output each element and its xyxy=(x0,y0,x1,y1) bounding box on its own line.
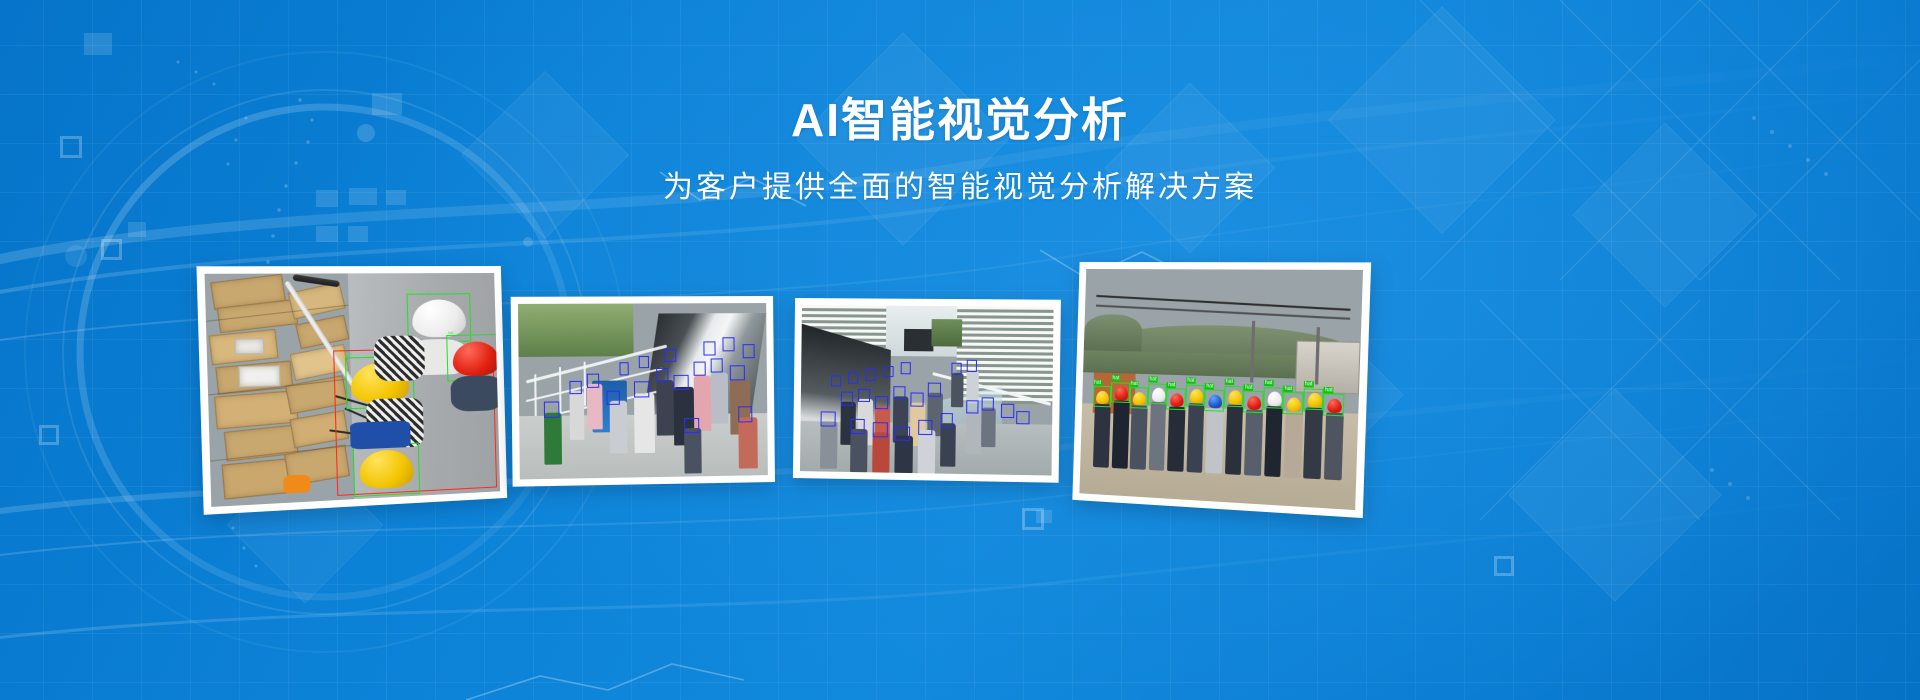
detection-label-hat: hat xyxy=(1111,375,1120,381)
decor-square-fill-7 xyxy=(84,33,112,55)
photo-crowd-escalator xyxy=(800,305,1054,475)
photo-helmet-warehouse: hat hat hat hat xyxy=(205,273,501,507)
detection-label-hat: hat xyxy=(1093,379,1102,385)
decor-square-outline-5 xyxy=(1494,556,1514,576)
detection-label-hat: hat xyxy=(1225,379,1235,386)
gallery-card-face-footbridge[interactable] xyxy=(511,296,775,487)
decor-square-fill-5 xyxy=(316,226,338,242)
decor-square-fill-6 xyxy=(348,226,368,242)
decor-dot-small xyxy=(523,237,533,247)
photo-face-footbridge xyxy=(518,303,768,479)
detection-label-hat: hat xyxy=(1205,383,1215,390)
gallery-strip: hat hat hat hat xyxy=(0,252,1920,532)
detection-label-hat: hat xyxy=(1324,387,1334,394)
detection-label-hat: hat xyxy=(1244,384,1254,391)
page-title: AI智能视觉分析 xyxy=(0,92,1920,150)
gallery-card-helmet-warehouse[interactable]: hat hat hat hat xyxy=(196,266,507,515)
detection-label-hat: hat xyxy=(1148,376,1157,382)
page-subtitle: 为客户提供全面的智能视觉分析解决方案 xyxy=(0,168,1920,207)
detection-label-hat: hat xyxy=(1304,381,1314,388)
detection-label-hat: hat xyxy=(1283,385,1293,392)
detection-label-hat: hat xyxy=(1167,382,1176,388)
gallery-card-helmet-outdoor[interactable]: hat hat hat hat hat hat hat hat hat hat … xyxy=(1072,262,1371,518)
detection-label-hat: hat xyxy=(1264,380,1274,387)
hero-banner: AI智能视觉分析 为客户提供全面的智能视觉分析解决方案 xyxy=(0,0,1920,700)
gallery-card-crowd-escalator[interactable] xyxy=(793,298,1061,483)
photo-helmet-outdoor: hat hat hat hat hat hat hat hat hat hat … xyxy=(1079,269,1363,510)
detection-label-hat: hat xyxy=(1130,380,1139,386)
hero-text-block: AI智能视觉分析 为客户提供全面的智能视觉分析解决方案 xyxy=(0,92,1920,207)
decor-square-fill-1 xyxy=(128,222,146,237)
detection-label-hat: hat xyxy=(1186,378,1195,384)
